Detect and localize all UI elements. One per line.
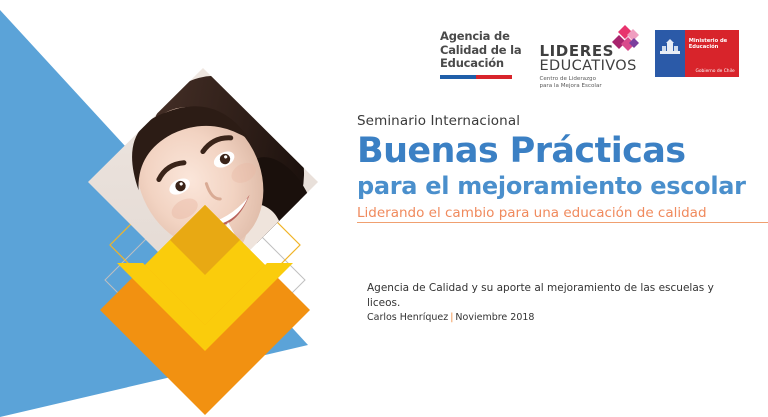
slide-canvas: Agencia de Calidad de la Educación LIDER… [0, 0, 768, 417]
tagline-row: Liderando el cambio para una educación d… [357, 204, 757, 224]
chile-coat-of-arms-icon [660, 39, 680, 54]
lideres-educativos-logo: LIDERES EDUCATIVOS Centro de Liderazgo p… [539, 30, 636, 89]
minedu-red-block: Ministerio de Educación Gobierno de Chil… [685, 30, 739, 77]
byline-author-date: Carlos Henríquez|Noviembre 2018 [367, 311, 747, 325]
tagline-underline [357, 222, 768, 223]
eyebrow-label: Seminario Internacional [357, 113, 757, 130]
page-subtitle: para el mejoramiento escolar [357, 172, 757, 201]
minedu-title: Ministerio de Educación [689, 38, 727, 50]
page-title: Buenas Prácticas [357, 131, 757, 172]
minedu-blue-block [655, 30, 685, 77]
lideres-line-2: EDUCATIVOS [539, 59, 636, 74]
byline-date: Noviembre 2018 [455, 312, 534, 323]
title-block: Seminario Internacional Buenas Prácticas… [357, 113, 757, 224]
ministerio-de-educacion-logo: Ministerio de Educación Gobierno de Chil… [655, 30, 739, 77]
minedu-government-label: Gobierno de Chile [695, 69, 734, 74]
decorative-graphic [0, 0, 340, 417]
logo-row: Agencia de Calidad de la Educación LIDER… [440, 30, 739, 89]
byline-author: Carlos Henríquez [367, 312, 448, 323]
lideres-diamond-mark [610, 24, 640, 59]
agencia-logo-text: Agencia de Calidad de la Educación [440, 30, 521, 71]
agencia-de-calidad-logo: Agencia de Calidad de la Educación [440, 30, 521, 79]
byline-subject: Agencia de Calidad y su aporte al mejora… [367, 281, 747, 311]
lideres-subtitle: Centro de Liderazgo para la Mejora Escol… [539, 76, 636, 89]
chile-flag-bar [440, 75, 512, 79]
tagline-text: Liderando el cambio para una educación d… [357, 204, 708, 222]
byline-block: Agencia de Calidad y su aporte al mejora… [367, 281, 747, 325]
